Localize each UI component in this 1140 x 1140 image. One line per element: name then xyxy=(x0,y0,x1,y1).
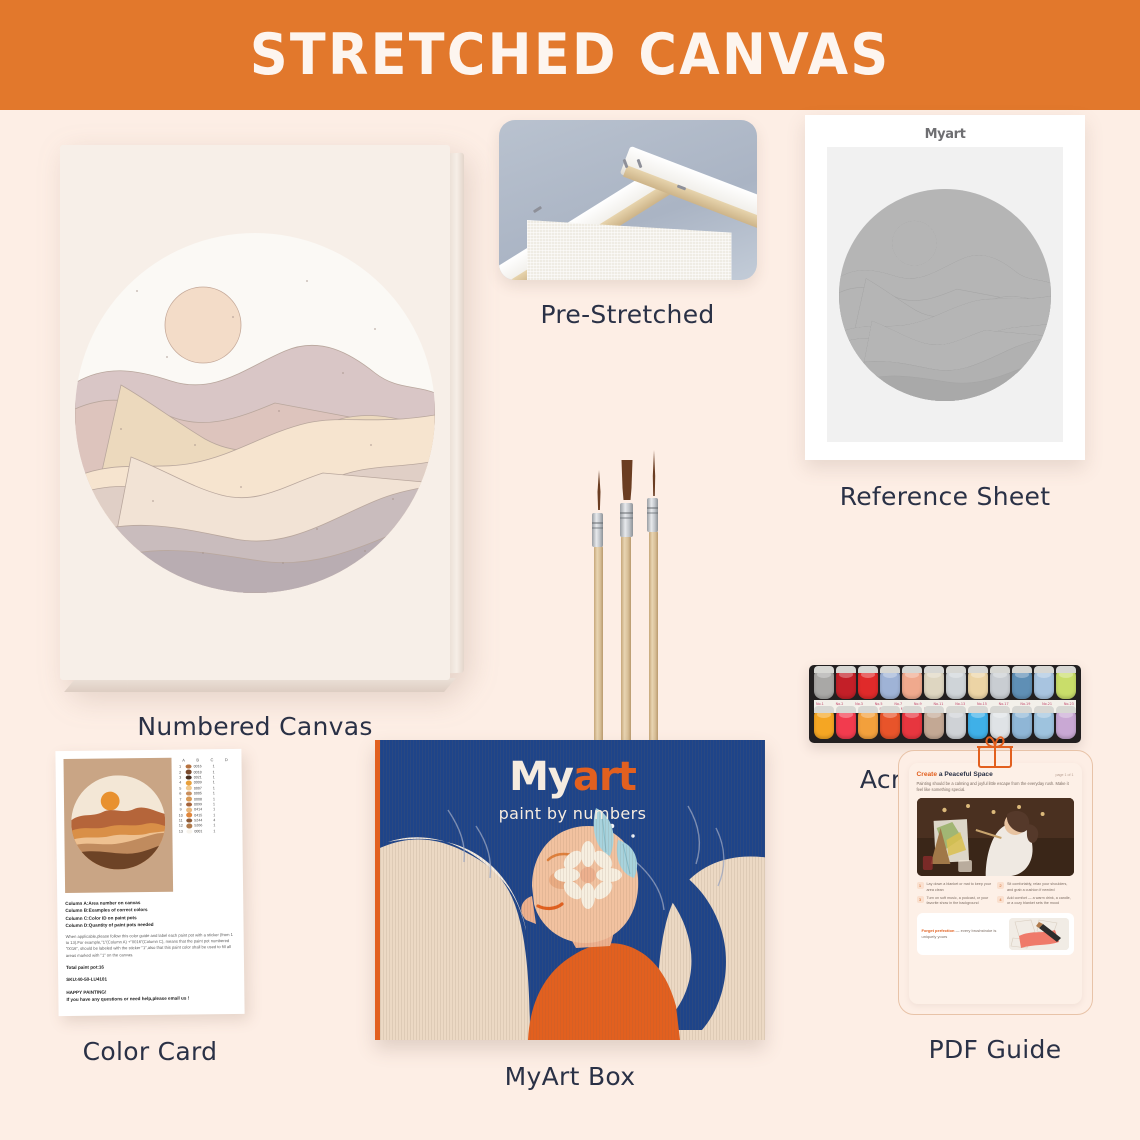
total-paint-pots: Total paint pot:16 xyxy=(66,962,236,971)
paint-pot-cap xyxy=(1056,706,1076,713)
pdf-note-image-svg xyxy=(1009,918,1069,950)
brush-ferrule xyxy=(620,503,633,537)
swatch-color-id: 0008 xyxy=(194,797,209,801)
paint-pot xyxy=(836,709,856,739)
swatch-quantity: 1 xyxy=(211,770,217,774)
pdf-tip: 1Lay down a blanket or mat to keep your … xyxy=(917,882,994,893)
swatch-color-id: 0021 xyxy=(194,775,209,779)
swatch-area-number: 10 xyxy=(177,813,184,817)
caption-pre-stretched: Pre-Stretched xyxy=(490,300,765,329)
pdf-tips-list: 1Lay down a blanket or mat to keep your … xyxy=(917,882,1074,906)
swatch-color-dot xyxy=(186,807,192,812)
swatch-color-dot xyxy=(186,786,192,791)
swatch-area-number: 1 xyxy=(177,765,184,769)
paint-pot xyxy=(946,669,966,699)
reference-sheet-logo: Myart xyxy=(817,127,1073,142)
swatch-quantity: 1 xyxy=(211,824,217,828)
color-card-paper: ABCD 10016120018130021140009150007160005… xyxy=(55,749,244,1016)
swatch-color-dot xyxy=(186,781,192,786)
pdf-tip-text: Add comfort — a warm drink, a candle, or… xyxy=(1007,896,1074,907)
paint-pot xyxy=(946,709,966,739)
pdf-note-image xyxy=(1009,918,1069,950)
canvas-weave-texture xyxy=(527,220,732,280)
canvas-bottom-edge xyxy=(64,678,456,692)
swatch-area-number: 9 xyxy=(177,808,184,812)
caption-myart-box: MyArt Box xyxy=(370,1062,770,1091)
paint-row-bottom xyxy=(814,709,1076,739)
swatch-quantity: 1 xyxy=(211,791,217,795)
pdf-note: Forget perfection — every brushstroke is… xyxy=(917,913,1074,955)
swatch-quantity: 1 xyxy=(211,829,217,833)
swatch-color-id: 0005 xyxy=(194,791,209,795)
paint-pot xyxy=(836,669,856,699)
pdf-tip-text: Sit comfortably, relax your shoulders, a… xyxy=(1007,882,1074,893)
paint-pot-cap xyxy=(1034,666,1054,673)
swatch-quantity: 1 xyxy=(211,813,217,817)
color-card-item: ABCD 10016120018130021140009150007160005… xyxy=(25,750,275,1066)
color-card-art-svg xyxy=(71,775,166,870)
paint-pot-label: No.5 xyxy=(875,702,883,706)
swatch-color-id: 0018 xyxy=(194,770,209,774)
paint-pot xyxy=(1056,709,1076,739)
swatch-table-header: ABCD xyxy=(176,757,233,763)
paint-pot-cap xyxy=(836,666,856,673)
swatch-color-id: 0009 xyxy=(194,781,209,785)
swatch-color-dot xyxy=(186,824,192,829)
paint-pot xyxy=(902,669,922,699)
box-tagline: paint by numbers xyxy=(380,804,765,823)
paint-pot xyxy=(1056,669,1076,699)
reference-artwork-circle xyxy=(839,189,1051,401)
pdf-photo-svg xyxy=(917,798,1074,876)
swatch-area-number: 8 xyxy=(177,803,184,807)
page-header: STRETCHED CANVAS xyxy=(0,0,1140,110)
paint-pot-cap xyxy=(902,666,922,673)
logo-wordmark: Myart xyxy=(380,754,765,800)
pdf-subtitle: Painting should be a calming and joyful … xyxy=(917,781,1074,793)
artwork-svg xyxy=(75,233,435,593)
pre-stretched-item: Pre-Stretched xyxy=(490,120,765,329)
myart-logo: Myart paint by numbers xyxy=(380,754,765,823)
swatch-area-number: 11 xyxy=(177,819,184,823)
paint-tray: No.1No.2No.3No.5No.7No.9No.11No.13No.15N… xyxy=(809,665,1081,743)
swatch-quantity: 1 xyxy=(211,764,217,768)
canvas-mockup xyxy=(60,145,450,680)
pdf-note-bold: Forget perfection xyxy=(922,928,955,933)
paint-pot-cap xyxy=(990,666,1010,673)
pdf-guide-frame: Create a Peaceful Space page 1 of 1 Pain… xyxy=(898,750,1093,1015)
brush-bristles xyxy=(595,470,602,515)
paint-pot xyxy=(902,709,922,739)
paint-pot-cap xyxy=(814,706,834,713)
paint-pot-cap xyxy=(946,666,966,673)
canvas-back-surface xyxy=(527,220,732,280)
canvas-face xyxy=(60,145,450,680)
pdf-tip-text: Turn on soft music, a podcast, or your f… xyxy=(927,896,994,907)
reference-sheet-artwork-area xyxy=(827,147,1063,442)
swatch-area-number: 3 xyxy=(177,776,184,780)
reference-artwork-svg xyxy=(839,189,1051,401)
swatch-quantity: 1 xyxy=(211,781,217,785)
sku-text: SKU:40-50-LU4101 xyxy=(66,974,236,983)
caption-numbered-canvas: Numbered Canvas xyxy=(55,712,455,741)
artwork-circle xyxy=(75,233,435,593)
brush-flat xyxy=(620,480,633,775)
myart-box-item: Myart paint by numbers MyArt Box xyxy=(370,740,770,1091)
paint-pot xyxy=(1012,669,1032,699)
swatch-color-dot xyxy=(186,802,192,807)
contact-text: If you have any questions or need help,p… xyxy=(66,994,236,1003)
paint-pot xyxy=(924,669,944,699)
swatch-color-dot xyxy=(186,791,192,796)
paint-pot xyxy=(1012,709,1032,739)
pdf-tip-number: 1 xyxy=(917,882,924,889)
reference-sheet-item: Myart R xyxy=(800,115,1090,511)
swatch-col-header: D xyxy=(225,757,228,762)
color-card-artwork-circle xyxy=(71,775,166,870)
paint-pot-cap xyxy=(1012,706,1032,713)
paint-pot xyxy=(968,669,988,699)
paint-pot-cap xyxy=(1034,706,1054,713)
swatch-color-id: 5244 xyxy=(194,818,209,822)
pdf-guide-item: Create a Peaceful Space page 1 of 1 Pain… xyxy=(880,750,1110,1064)
swatch-color-id: 5266 xyxy=(194,824,209,828)
swatch-color-dot xyxy=(186,770,192,775)
swatch-color-dot xyxy=(186,764,192,769)
brush-bristles xyxy=(620,460,633,505)
paint-pot xyxy=(858,669,878,699)
paint-pot xyxy=(924,709,944,739)
paint-pot-cap xyxy=(836,706,856,713)
pdf-page-number: page 1 of 1 xyxy=(1056,773,1074,777)
paint-pot-cap xyxy=(968,666,988,673)
pdf-tip: 3Turn on soft music, a podcast, or your … xyxy=(917,896,994,907)
pdf-title-highlight: Create xyxy=(917,771,938,778)
paint-pot-cap xyxy=(946,706,966,713)
paint-pot-cap xyxy=(1056,666,1076,673)
color-card-top: ABCD 10016120018130021140009150007160005… xyxy=(63,757,235,893)
swatch-quantity: 1 xyxy=(211,797,217,801)
paint-pot xyxy=(814,709,834,739)
myart-box-mockup: Myart paint by numbers xyxy=(375,740,765,1040)
paint-pot-cap xyxy=(990,706,1010,713)
swatch-area-number: 13 xyxy=(177,829,184,833)
logo-art: art xyxy=(573,754,636,800)
swatch-color-id: 0001 xyxy=(194,829,209,833)
pdf-tip: 2Sit comfortably, relax your shoulders, … xyxy=(997,882,1074,893)
swatch-area-number: 4 xyxy=(177,781,184,785)
color-card-text: Column A:Area number on canvas Column B:… xyxy=(65,898,236,1004)
color-card-instructions: When applicable,please follow this color… xyxy=(66,932,236,959)
swatch-color-id: 0007 xyxy=(194,786,209,790)
paint-labels-top: No.1No.2No.3No.5No.7No.9No.11No.13No.15N… xyxy=(816,702,1074,706)
swatch-color-dot xyxy=(186,813,192,818)
pdf-tip-text: Lay down a blanket or mat to keep your a… xyxy=(927,882,994,893)
legend-line: Column D:Quantity of paint pots needed xyxy=(65,920,235,930)
paint-pot xyxy=(1034,669,1054,699)
paint-pot-cap xyxy=(858,666,878,673)
swatch-area-number: 2 xyxy=(177,770,184,774)
paint-pot-cap xyxy=(880,666,900,673)
swatch-area-number: 5 xyxy=(177,786,184,790)
paint-row-top xyxy=(814,669,1076,699)
swatch-quantity: 1 xyxy=(211,807,217,811)
reference-sheet-paper: Myart xyxy=(805,115,1085,460)
brush-handle xyxy=(649,530,658,775)
pdf-tip-number: 2 xyxy=(997,882,1004,889)
paint-pot-cap xyxy=(880,706,900,713)
caption-reference-sheet: Reference Sheet xyxy=(800,482,1090,511)
staple-icon xyxy=(532,206,541,213)
color-swatch-table: ABCD 10016120018130021140009150007160005… xyxy=(176,757,235,892)
paint-pot xyxy=(814,669,834,699)
swatch-color-dot xyxy=(186,797,192,802)
paint-pot-cap xyxy=(924,706,944,713)
pdf-tip-number: 3 xyxy=(917,896,924,903)
color-card-artwork xyxy=(63,758,173,893)
swatch-quantity: 1 xyxy=(211,775,217,779)
swatch-col-header: A xyxy=(182,758,185,763)
paint-pot-cap xyxy=(902,706,922,713)
swatch-quantity: 1 xyxy=(211,786,217,790)
swatch-color-id: 0099 xyxy=(194,802,209,806)
paint-pot-cap xyxy=(1012,666,1032,673)
pdf-guide-page: Create a Peaceful Space page 1 of 1 Pain… xyxy=(909,763,1082,1004)
swatch-color-dot xyxy=(186,818,192,823)
paint-pot xyxy=(880,709,900,739)
numbered-canvas-item: Numbered Canvas xyxy=(55,145,455,741)
swatch-area-number: 6 xyxy=(177,792,184,796)
paint-pot-cap xyxy=(814,666,834,673)
gift-icon xyxy=(975,733,1015,774)
swatch-color-dot xyxy=(186,775,192,780)
swatch-table-body: 1001612001813002114000915000716000517000… xyxy=(177,763,235,834)
pdf-tip: 4Add comfort — a warm drink, a candle, o… xyxy=(997,896,1074,907)
brushes-group xyxy=(490,480,765,775)
paint-pot xyxy=(858,709,878,739)
paint-pot-cap xyxy=(968,706,988,713)
canvas-corner-photo xyxy=(499,120,757,280)
paint-pot xyxy=(1034,709,1054,739)
pdf-note-text: Forget perfection — every brushstroke is… xyxy=(922,928,1004,940)
swatch-area-number: 7 xyxy=(177,797,184,801)
page-title: STRETCHED CANVAS xyxy=(250,22,891,88)
paint-pot xyxy=(990,669,1010,699)
pdf-photo xyxy=(917,798,1074,876)
caption-color-card: Color Card xyxy=(25,1037,275,1066)
swatch-color-dot xyxy=(186,829,192,834)
swatch-area-number: 12 xyxy=(177,824,184,828)
brush-ferrule xyxy=(647,498,658,532)
swatch-color-id: 0414 xyxy=(194,808,209,812)
brush-round-small xyxy=(593,503,604,775)
swatch-color-id: 0016 xyxy=(194,764,209,768)
swatch-row: 1300011 xyxy=(177,828,234,834)
swatch-quantity: 4 xyxy=(211,818,217,822)
swatch-col-header: B xyxy=(196,757,199,762)
brush-handle xyxy=(621,535,631,775)
brush-liner xyxy=(648,487,659,775)
canvas-side-edge xyxy=(448,153,464,674)
paint-pot-cap xyxy=(924,666,944,673)
logo-my: My xyxy=(509,754,573,800)
swatch-col-header: C xyxy=(210,757,213,762)
brush-ferrule xyxy=(592,513,603,547)
paint-pot xyxy=(880,669,900,699)
paint-pot-cap xyxy=(858,706,878,713)
swatch-color-id: 0415 xyxy=(194,813,209,817)
swatch-quantity: 1 xyxy=(211,802,217,806)
caption-pdf-guide: PDF Guide xyxy=(880,1035,1110,1064)
brush-bristles xyxy=(651,450,657,501)
pdf-tip-number: 4 xyxy=(997,896,1004,903)
product-contents-stage: Numbered Canvas Pre-Stretched Myart xyxy=(0,110,1140,1140)
